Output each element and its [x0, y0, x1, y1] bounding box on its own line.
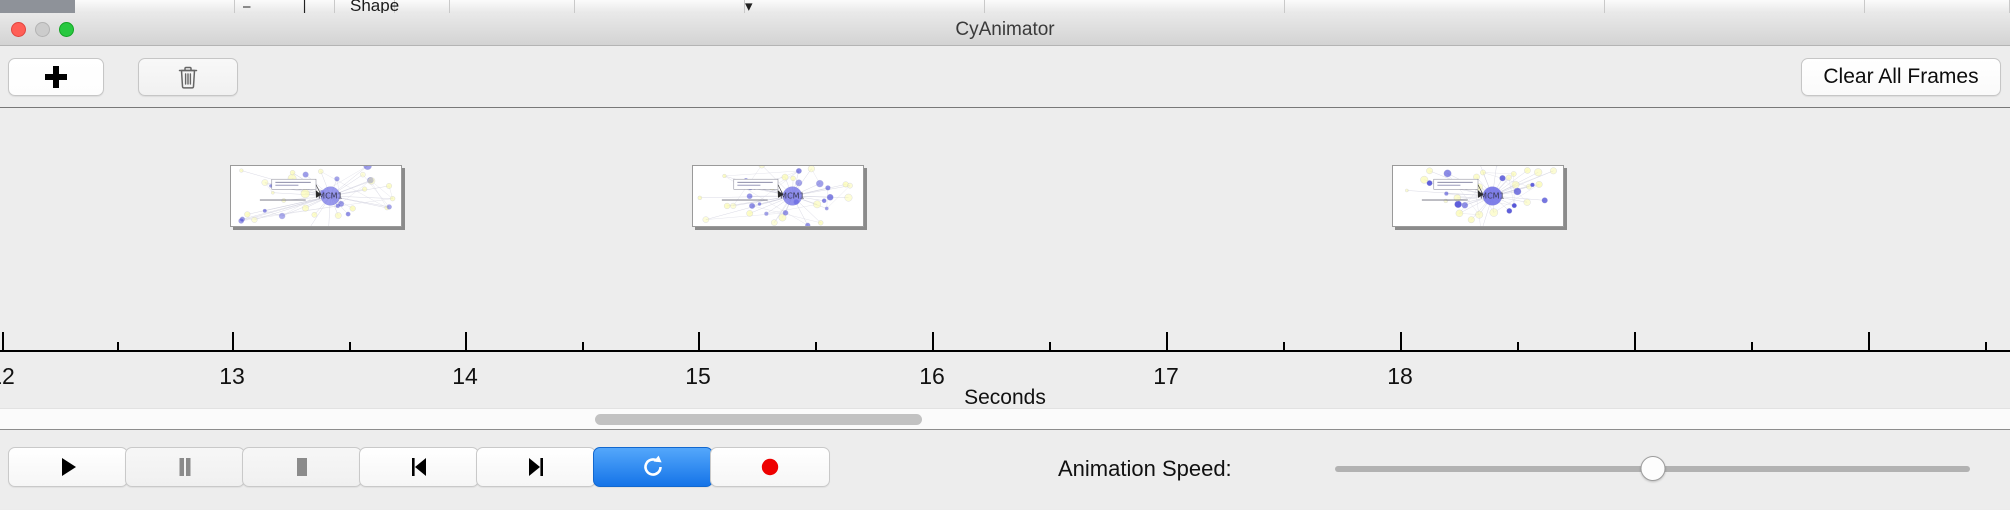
axis-tick-minor	[1985, 342, 1987, 352]
axis-tick-minor	[349, 342, 351, 352]
axis-tick-minor	[117, 342, 119, 352]
background-window-segment	[745, 0, 985, 13]
svg-text:MCM1: MCM1	[318, 192, 342, 201]
clear-all-frames-button[interactable]: Clear All Frames	[1801, 58, 2001, 96]
background-window-strip: Shape⎯│▾	[0, 0, 2010, 13]
plus-icon	[45, 66, 67, 88]
background-window-segment	[985, 0, 1285, 13]
animation-speed-slider-thumb[interactable]	[1640, 456, 1665, 481]
background-window-segment	[1605, 0, 1865, 13]
cyanimator-window: CyAnimator Clear All Frames MCM1MCM1MCM1…	[0, 13, 2010, 510]
background-window-segment	[1865, 0, 2010, 13]
skip-to-start-button[interactable]	[359, 447, 479, 487]
axis-tick-minor	[1751, 342, 1753, 352]
window-title: CyAnimator	[0, 19, 2010, 41]
background-window-segment	[0, 0, 75, 13]
frames-toolbar: Clear All Frames	[0, 46, 2010, 108]
axis-tick-major	[1634, 332, 1636, 352]
record-button[interactable]	[710, 447, 830, 487]
background-window-segment	[575, 0, 745, 13]
record-icon	[757, 454, 783, 480]
clear-all-frames-label: Clear All Frames	[1823, 65, 1978, 89]
skip-to-end-button[interactable]	[476, 447, 596, 487]
background-window-segment	[75, 0, 235, 13]
loop-button[interactable]	[593, 447, 713, 487]
background-window-segment	[395, 0, 450, 13]
delete-frame-button[interactable]	[138, 58, 238, 96]
axis-tick-minor	[1517, 342, 1519, 352]
timeline-horizontal-scrollbar[interactable]	[0, 408, 2010, 430]
background-window-glyph: │	[300, 0, 309, 13]
axis-tick-minor	[1283, 342, 1285, 352]
animation-speed-slider[interactable]	[1335, 466, 1970, 472]
pause-icon	[172, 454, 198, 480]
window-titlebar: CyAnimator	[0, 13, 2010, 46]
background-window-label: Shape	[350, 0, 399, 13]
background-window-glyph: ⎯	[243, 0, 251, 13]
loop-icon	[639, 453, 667, 481]
timeline-axis: 12131415161718	[0, 350, 2010, 352]
add-frame-button[interactable]	[8, 58, 104, 96]
svg-text:MCM1: MCM1	[780, 192, 804, 201]
playback-control-bar: Animation Speed:	[0, 430, 2010, 509]
axis-tick-major	[698, 332, 700, 352]
background-window-segment	[1285, 0, 1605, 13]
axis-tick-major	[1868, 332, 1870, 352]
axis-tick-major	[465, 332, 467, 352]
play-button[interactable]	[8, 447, 128, 487]
axis-tick-major	[932, 332, 934, 352]
svg-text:MCM1: MCM1	[1480, 192, 1504, 201]
timeline-frame-thumbnail[interactable]: MCM1	[230, 165, 402, 227]
timeline-panel[interactable]: MCM1MCM1MCM1 12131415161718 Seconds	[0, 108, 2010, 430]
scrollbar-thumb[interactable]	[595, 414, 922, 425]
axis-tick-minor	[582, 342, 584, 352]
axis-title: Seconds	[0, 386, 2010, 410]
play-icon	[55, 454, 81, 480]
trash-icon	[177, 65, 199, 89]
timeline-frame-thumbnail[interactable]: MCM1	[1392, 165, 1564, 227]
axis-tick-major	[1400, 332, 1402, 352]
skip-back-icon	[406, 454, 432, 480]
background-window-segment	[450, 0, 575, 13]
pause-button	[125, 447, 245, 487]
animation-speed-label: Animation Speed:	[1058, 456, 1232, 482]
timeline-frame-thumbnail[interactable]: MCM1	[692, 165, 864, 227]
axis-tick-minor	[815, 342, 817, 352]
axis-tick-major	[2, 332, 4, 352]
stop-icon	[289, 454, 315, 480]
axis-tick-minor	[1049, 342, 1051, 352]
stop-button	[242, 447, 362, 487]
skip-forward-icon	[523, 454, 549, 480]
axis-tick-major	[232, 332, 234, 352]
axis-tick-major	[1166, 332, 1168, 352]
background-window-glyph: ▾	[745, 0, 753, 13]
